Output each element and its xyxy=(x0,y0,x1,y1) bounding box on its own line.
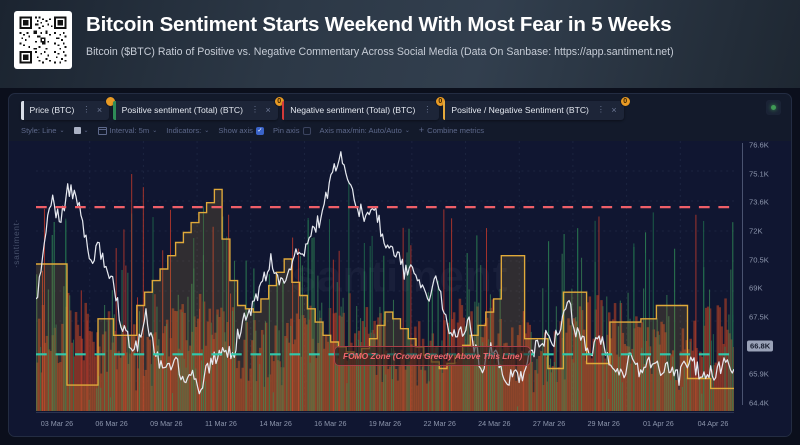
metric-chip-positive-sentiment[interactable]: Positive sentiment (Total) (BTC) ⋮ × 0 xyxy=(113,101,278,120)
show-axis-checkbox[interactable]: ✓ xyxy=(256,127,264,135)
pin-axis-checkbox[interactable] xyxy=(303,127,311,135)
brand-vertical-label: ·santiment· xyxy=(11,219,21,268)
metric-chip-toolbar: Price (BTC) ⋮ × Positive sentiment (Tota… xyxy=(9,94,791,122)
chart-app-panel: Price (BTC) ⋮ × Positive sentiment (Tota… xyxy=(8,93,792,437)
metric-chip-price[interactable]: Price (BTC) ⋮ × xyxy=(21,101,109,120)
y-axis-tick: 65.9K xyxy=(749,370,769,379)
metric-chip-label: Negative sentiment (Total) (BTC) xyxy=(284,105,420,115)
metric-chip-label: Positive sentiment (Total) (BTC) xyxy=(116,105,248,115)
metric-menu-icon[interactable]: ⋮ xyxy=(420,106,435,114)
pin-axis-toggle[interactable]: Pin axis xyxy=(273,126,311,135)
x-axis-tick: 22 Mar 26 xyxy=(423,419,455,428)
y-axis-tick: 76.6K xyxy=(749,141,769,150)
chart-canvas[interactable] xyxy=(36,141,734,411)
chart-options-toolbar: Style: Line ⌄ ⌄ Interval: 5m ⌄ Indicator… xyxy=(9,122,791,139)
y-axis-tick: 66.8K xyxy=(747,340,773,351)
axis-minmax-label: Axis max/min: Auto/Auto xyxy=(320,126,402,135)
chevron-down-icon: ⌄ xyxy=(84,127,89,134)
x-axis-tick: 04 Apr 26 xyxy=(698,419,729,428)
combine-metrics-label: Combine metrics xyxy=(427,126,484,135)
chart-plot-area[interactable]: ·santiment· santiment 76.6K75.1K73.6K72K… xyxy=(9,141,791,437)
metric-alert-badge[interactable]: 0 xyxy=(620,96,631,107)
metric-menu-icon[interactable]: ⋮ xyxy=(79,106,94,114)
show-axis-toggle[interactable]: Show axis ✓ xyxy=(218,126,264,135)
x-axis-tick: 27 Mar 26 xyxy=(533,419,565,428)
pin-axis-label: Pin axis xyxy=(273,126,300,135)
close-icon[interactable]: × xyxy=(94,106,105,115)
metric-menu-icon[interactable]: ⋮ xyxy=(594,106,609,114)
x-axis-tick: 06 Mar 26 xyxy=(95,419,127,428)
color-swatch-icon xyxy=(74,127,81,134)
y-axis-tick: 73.6K xyxy=(749,198,769,207)
chevron-down-icon: ⌄ xyxy=(59,127,64,134)
fomo-zone-annotation: FOMO Zone (Crowd Greedy Above This Line) xyxy=(334,346,531,366)
close-icon[interactable]: × xyxy=(608,106,619,115)
y-axis-tick: 70.5K xyxy=(749,255,769,264)
page-header: Bitcoin Sentiment Starts Weekend With Mo… xyxy=(0,0,800,88)
x-axis-tick: 03 Mar 26 xyxy=(41,419,73,428)
page-title: Bitcoin Sentiment Starts Weekend With Mo… xyxy=(86,13,674,37)
y-axis-tick: 69K xyxy=(749,284,763,293)
x-axis: 03 Mar 2606 Mar 2609 Mar 2611 Mar 2614 M… xyxy=(36,411,734,437)
x-axis-tick: 29 Mar 26 xyxy=(588,419,620,428)
close-icon[interactable]: × xyxy=(262,106,273,115)
axis-minmax-dropdown[interactable]: Axis max/min: Auto/Auto ⌄ xyxy=(320,126,410,135)
chevron-down-icon: ⌄ xyxy=(204,127,209,134)
style-label: Style: Line xyxy=(21,126,56,135)
indicators-label: Indicators: xyxy=(166,126,201,135)
live-status-indicator[interactable] xyxy=(766,100,781,115)
qr-code-icon xyxy=(14,11,72,69)
chevron-down-icon: ⌄ xyxy=(152,127,157,134)
interval-label: Interval: 5m xyxy=(110,126,150,135)
chevron-down-icon: ⌄ xyxy=(405,127,410,134)
style-dropdown[interactable]: Style: Line ⌄ xyxy=(21,126,65,135)
metric-chip-negative-sentiment[interactable]: Negative sentiment (Total) (BTC) ⋮ 0 xyxy=(282,101,439,120)
y-axis-tick: 72K xyxy=(749,227,763,236)
x-axis-spine xyxy=(36,412,734,413)
show-axis-label: Show axis xyxy=(218,126,253,135)
x-axis-tick: 19 Mar 26 xyxy=(369,419,401,428)
metric-chip-label: Positive / Negative Sentiment (BTC) xyxy=(445,105,594,115)
calendar-icon xyxy=(98,127,107,135)
x-axis-tick: 24 Mar 26 xyxy=(478,419,510,428)
metric-menu-icon[interactable]: ⋮ xyxy=(248,106,263,114)
x-axis-tick: 11 Mar 26 xyxy=(205,419,237,428)
metric-chip-label: Price (BTC) xyxy=(24,105,80,115)
y-axis: 76.6K75.1K73.6K72K70.5K69K67.5K66.8K65.9… xyxy=(734,141,791,411)
combine-metrics-button[interactable]: + Combine metrics xyxy=(419,126,484,135)
y-axis-tick: 67.5K xyxy=(749,313,769,322)
page-subtitle: Bitcoin ($BTC) Ratio of Positive vs. Neg… xyxy=(86,46,674,58)
x-axis-tick: 09 Mar 26 xyxy=(150,419,182,428)
x-axis-tick: 16 Mar 26 xyxy=(314,419,346,428)
plus-icon: + xyxy=(419,126,424,135)
y-axis-spine xyxy=(742,143,743,405)
x-axis-tick: 14 Mar 26 xyxy=(259,419,291,428)
metric-chip-pos-neg-ratio[interactable]: Positive / Negative Sentiment (BTC) ⋮ × … xyxy=(443,101,624,120)
y-axis-tick: 64.4K xyxy=(749,399,769,408)
x-axis-tick: 01 Apr 26 xyxy=(643,419,674,428)
y-axis-tick: 75.1K xyxy=(749,169,769,178)
color-dropdown[interactable]: ⌄ xyxy=(74,127,89,134)
indicators-dropdown[interactable]: Indicators: ⌄ xyxy=(166,126,209,135)
interval-dropdown[interactable]: Interval: 5m ⌄ xyxy=(98,126,158,135)
